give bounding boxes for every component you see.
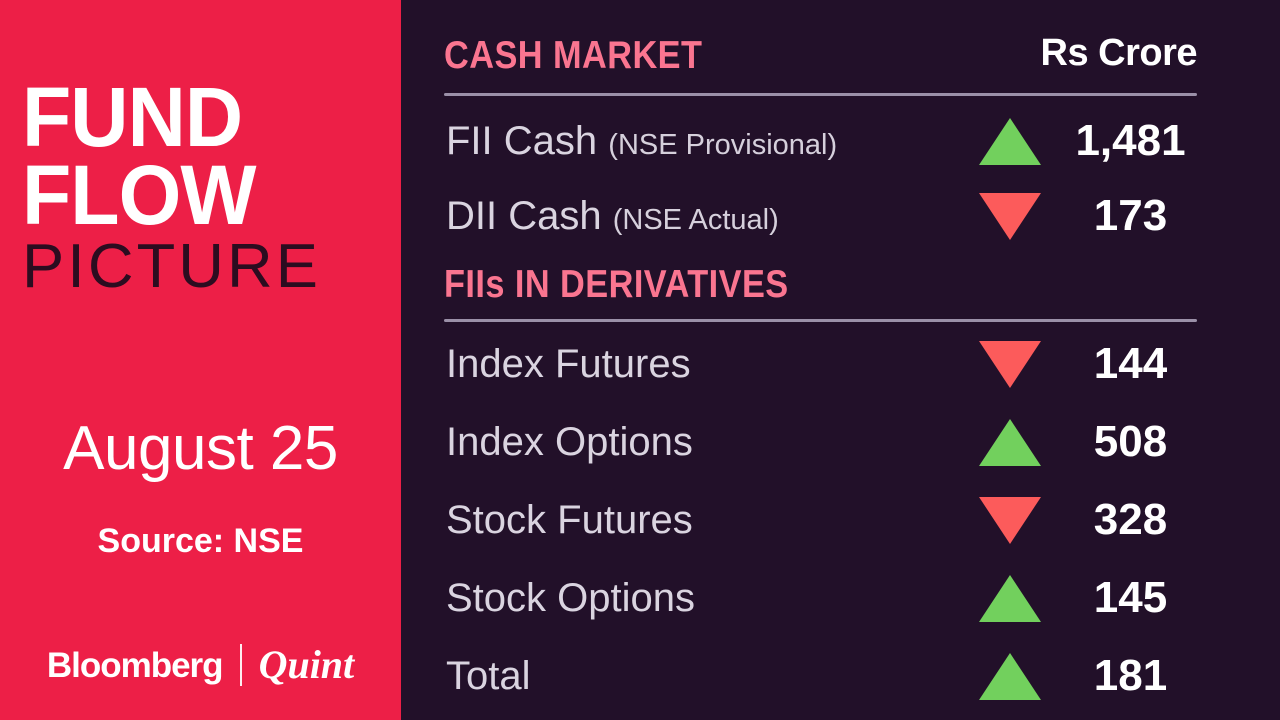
- row-label-sub: (NSE Actual): [613, 204, 779, 236]
- logo-divider: [240, 644, 242, 686]
- row-label-main: Total: [446, 654, 531, 698]
- table-row: FII Cash (NSE Provisional) 1,481: [444, 102, 1197, 180]
- row-label: Total: [446, 656, 531, 696]
- table-row: Index Futures 144: [444, 325, 1197, 403]
- row-value: 508: [1064, 420, 1197, 464]
- row-label: Index Options: [446, 422, 693, 462]
- direction-up-icon: [977, 115, 1043, 167]
- row-label: FII Cash (NSE Provisional): [446, 121, 837, 161]
- row-label-main: FII Cash: [446, 119, 597, 163]
- table-row: Index Options 508: [444, 403, 1197, 481]
- section-fii-derivatives-rule: [444, 319, 1197, 322]
- left-brand-panel: FUND FLOW PICTURE August 25 Source: NSE …: [0, 0, 401, 720]
- brand-title-block: FUND FLOW PICTURE: [22, 78, 382, 298]
- row-label-main: Index Options: [446, 420, 693, 464]
- source-label: Source: NSE: [0, 524, 401, 558]
- table-row: Total 181: [444, 637, 1197, 715]
- row-value: 144: [1064, 342, 1197, 386]
- table-row: Stock Options 145: [444, 559, 1197, 637]
- section-cash-market-title: CASH MARKET: [444, 36, 702, 75]
- row-label-main: Index Futures: [446, 342, 691, 386]
- fund-flow-infographic: FUND FLOW PICTURE August 25 Source: NSE …: [0, 0, 1280, 720]
- row-label: Stock Options: [446, 578, 695, 618]
- direction-down-icon: [977, 338, 1043, 390]
- row-label-main: Stock Options: [446, 576, 695, 620]
- row-label-sub: (NSE Provisional): [608, 129, 837, 161]
- section-cash-market-header: CASH MARKET Rs Crore: [444, 36, 1197, 90]
- row-label: DII Cash (NSE Actual): [446, 196, 779, 236]
- row-value: 145: [1064, 576, 1197, 620]
- direction-down-icon: [977, 494, 1043, 546]
- row-value: 173: [1064, 194, 1197, 238]
- brand-word-flow: FLOW: [22, 156, 368, 234]
- logo-bloomberg-wordmark: Bloomberg: [47, 648, 223, 683]
- brand-word-fund: FUND: [22, 78, 368, 156]
- unit-label: Rs Crore: [1041, 34, 1198, 72]
- table-row: DII Cash (NSE Actual) 173: [444, 177, 1197, 255]
- row-value: 181: [1064, 654, 1197, 698]
- row-label: Stock Futures: [446, 500, 693, 540]
- section-fii-derivatives-title: FIIs IN DERIVATIVES: [444, 265, 789, 304]
- brand-word-picture: PICTURE: [22, 236, 389, 298]
- row-value: 328: [1064, 498, 1197, 542]
- direction-down-icon: [977, 190, 1043, 242]
- section-cash-market: CASH MARKET Rs Crore FII Cash (NSE Provi…: [444, 36, 1197, 90]
- date-label: August 25: [0, 418, 401, 480]
- direction-up-icon: [977, 416, 1043, 468]
- logo-quint-wordmark: Quint: [259, 645, 355, 685]
- row-value: 1,481: [1064, 119, 1197, 163]
- row-label: Index Futures: [446, 344, 691, 384]
- section-fii-derivatives: FIIs IN DERIVATIVES Index Futures 144 In…: [444, 265, 1197, 319]
- row-label-main: DII Cash: [446, 194, 602, 238]
- data-panel: CASH MARKET Rs Crore FII Cash (NSE Provi…: [401, 0, 1280, 720]
- direction-up-icon: [977, 650, 1043, 702]
- bloomberg-quint-logo: Bloomberg Quint: [0, 644, 401, 686]
- row-label-main: Stock Futures: [446, 498, 693, 542]
- table-row: Stock Futures 328: [444, 481, 1197, 559]
- section-fii-derivatives-header: FIIs IN DERIVATIVES: [444, 265, 1197, 319]
- section-cash-market-rule: [444, 93, 1197, 96]
- direction-up-icon: [977, 572, 1043, 624]
